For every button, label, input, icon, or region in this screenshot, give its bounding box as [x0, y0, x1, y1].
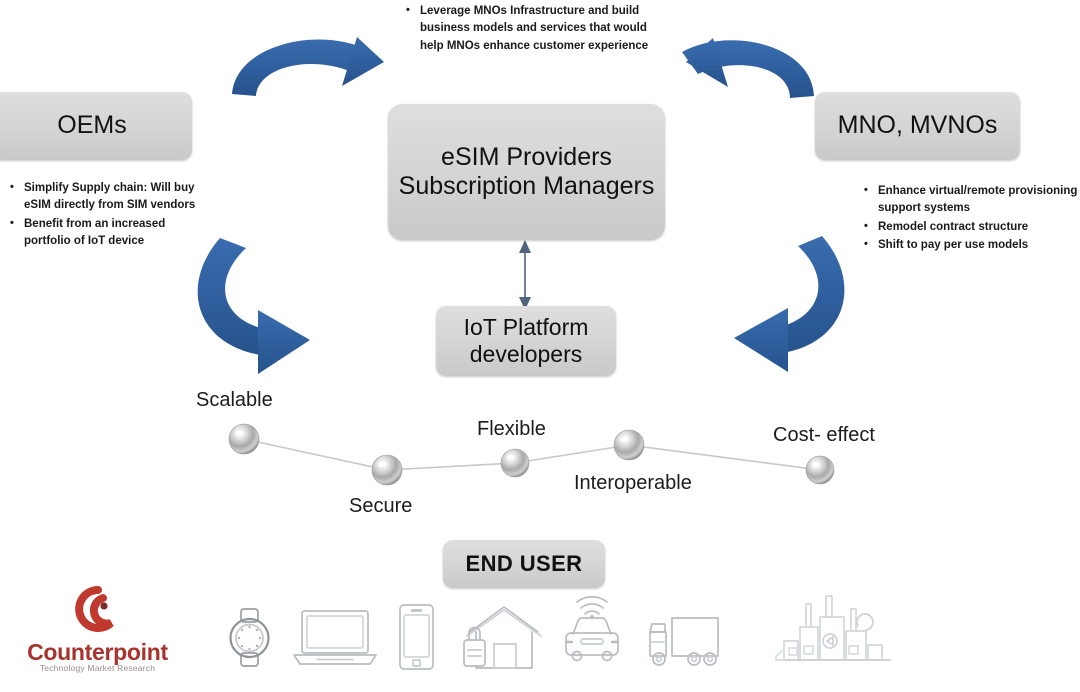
logo-tagline: Technology Market Research [20, 663, 175, 673]
laptop-icon [294, 611, 376, 664]
bullet-oems-item: Benefit from an increased portfolio of I… [8, 216, 204, 251]
arrow-mno-down-to-chain [734, 236, 844, 372]
box-iot-line1: IoT Platform [464, 314, 589, 341]
chain-node-label: Interoperable [574, 472, 692, 495]
smart-home-icon [464, 607, 541, 668]
bullet-mno-item: Enhance virtual/remote provisioning supp… [862, 183, 1080, 218]
box-end-user-label: END USER [466, 551, 583, 577]
box-mno-mvnos[interactable]: MNO, MVNOs [815, 92, 1020, 160]
chain-node-label: Scalable [196, 389, 273, 412]
chain-node-sphere [229, 424, 259, 454]
box-esim-line2: Subscription Managers [399, 172, 655, 202]
chain-node-highlight [812, 462, 820, 468]
bullet-mno-item: Remodel contract structure [862, 219, 1080, 236]
smartphone-icon [400, 605, 433, 669]
box-iot-platform-developers[interactable]: IoT Platform developers [436, 306, 616, 376]
bullets-mno-mvnos: Enhance virtual/remote provisioning supp… [862, 183, 1080, 256]
chain-node-label: Secure [349, 495, 412, 518]
arrow-esim-iot-bidirectional [519, 240, 531, 310]
truck-icon [650, 618, 718, 665]
chain-node-sphere [501, 449, 529, 477]
box-end-user[interactable]: END USER [443, 540, 605, 588]
box-esim-line1: eSIM Providers [399, 143, 655, 173]
chain-node-label: Cost- effect [773, 424, 875, 447]
bullets-oems: Simplify Supply chain: Will buy eSIM dir… [8, 180, 204, 252]
counterpoint-logo: Counterpoint Technology Market Research [20, 587, 175, 679]
box-oems[interactable]: OEMs [0, 92, 192, 160]
chain-node-sphere [806, 456, 834, 484]
chain-node-highlight [620, 436, 629, 442]
connected-car-icon [566, 597, 618, 661]
bullet-mno-item: Shift to pay per use models [862, 237, 1080, 254]
box-iot-line2: developers [464, 341, 589, 368]
chain-node-highlight [235, 430, 244, 436]
bullet-oems-item: Simplify Supply chain: Will buy eSIM dir… [8, 180, 204, 215]
box-esim-providers[interactable]: eSIM Providers Subscription Managers [388, 104, 665, 240]
diagram-canvas: OEMs MNO, MVNOs eSIM Providers Subscript… [0, 0, 1080, 692]
chain-node-sphere [614, 430, 644, 460]
box-mno-mvnos-label: MNO, MVNOs [838, 111, 998, 141]
logo-wordmark: Counterpoint [20, 639, 175, 666]
chain-node-sphere [372, 455, 402, 485]
arrow-oems-to-esim [232, 37, 384, 96]
chain-node-highlight [507, 455, 515, 461]
box-oems-label: OEMs [57, 111, 126, 141]
arrow-oems-down-to-chain [198, 238, 310, 374]
chain-node-highlight [378, 461, 387, 467]
bullet-esim-item: Leverage MNOs Infrastructure and build b… [404, 3, 654, 55]
smartwatch-icon [231, 609, 269, 666]
industrial-iot-icon [776, 596, 890, 660]
bullets-esim-providers: Leverage MNOs Infrastructure and build b… [404, 3, 654, 56]
arrow-esim-to-mno [682, 38, 814, 98]
chain-node-label: Flexible [477, 418, 546, 441]
